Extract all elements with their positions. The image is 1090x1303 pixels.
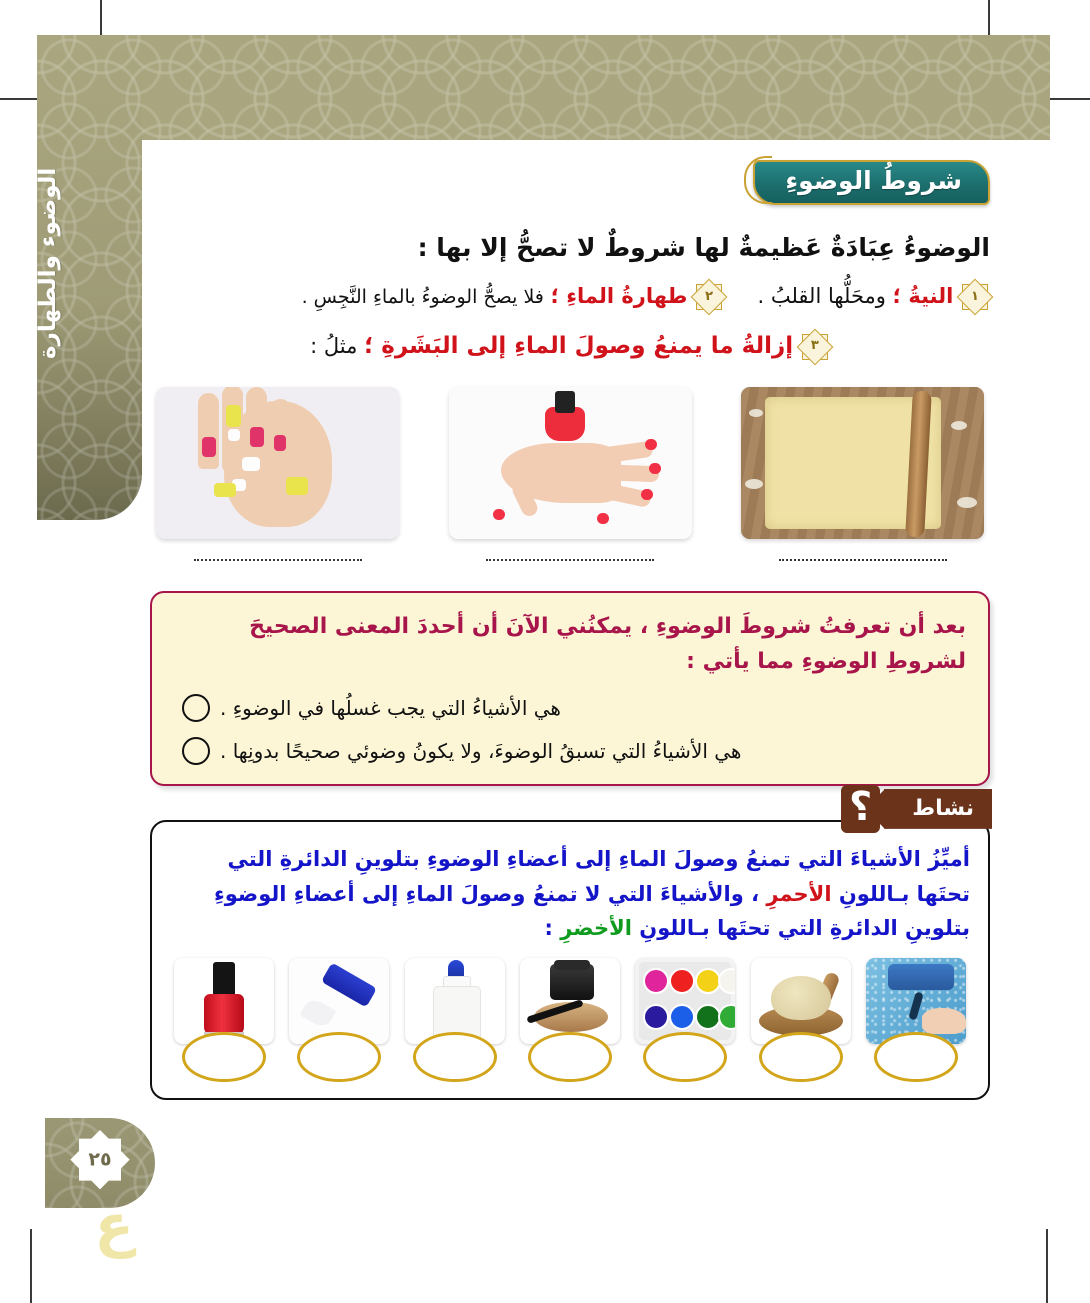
example-photo-cell-2 [449, 387, 692, 561]
page-title: شروطُ الوضوءِ [785, 166, 962, 195]
example-photo-cell-1 [156, 387, 399, 561]
activity-text-part-3: : [545, 916, 553, 940]
section-title-banner: شروطُ الوضوءِ [753, 160, 990, 205]
activity-text-green: الأخضرِ [560, 916, 632, 940]
answer-circle-7[interactable] [874, 1032, 958, 1082]
crop-mark-bottom-right [1046, 1229, 1048, 1303]
condition-2-headword: طهارةُ الماءِ ؛ [551, 284, 688, 308]
answer-circle-5[interactable] [643, 1032, 727, 1082]
activity-item-paint-palette [635, 958, 735, 1082]
activity-item-row [170, 958, 970, 1082]
thumbnail-black-ink-bottle [520, 958, 620, 1044]
activity-section: نشاط ؟ أميِّزُ الأشياءَ التي تمنعُ وصولَ… [150, 820, 990, 1100]
answer-circle-1[interactable] [182, 1032, 266, 1082]
chapter-side-tab: الوضوء والطهارة [37, 35, 142, 520]
thumbnail-blue-paint-roller [866, 958, 966, 1044]
activity-item-blue-correction-pen [289, 958, 389, 1082]
page-content: شروطُ الوضوءِ الوضوءُ عِبَادَةٌ عَظيمةٌ … [150, 160, 990, 1100]
answer-line-2[interactable] [486, 559, 654, 561]
activity-tab-label: نشاط [912, 796, 974, 821]
reflection-option-2-label: هي الأشياءُ التي تسبقُ الوضوءَ، ولا يكون… [220, 737, 741, 766]
chapter-side-tab-label: الوضوء والطهارة [37, 113, 142, 413]
publisher-logo-icon: ع [58, 1196, 134, 1262]
thumbnail-white-glue-bottle [405, 958, 505, 1044]
example-photo-cell-3 [741, 387, 984, 561]
conditions-line-2: ٣ إزالةُ ما يمنعُ وصولَ الماءِ إلى البَش… [150, 328, 990, 365]
thumbnail-red-nail-polish [174, 958, 274, 1044]
photo-hand-with-paint-spots [156, 387, 399, 539]
activity-item-white-glue-bottle [405, 958, 505, 1082]
condition-2-rest: فلا يصحُّ الوضوءُ بالماءِ النَّجِسِ . [302, 286, 544, 308]
section-title-row: شروطُ الوضوءِ [150, 160, 990, 205]
reflection-option-2[interactable]: هي الأشياءُ التي تسبقُ الوضوءَ، ولا يكون… [174, 737, 966, 766]
activity-item-red-nail-polish [174, 958, 274, 1082]
answer-line-1[interactable] [194, 559, 362, 561]
reflection-option-1[interactable]: هي الأشياءُ التي يجب غسلُها في الوضوءِ . [174, 694, 966, 723]
condition-1-rest: ومحَلُّها القلبُ . [758, 284, 886, 308]
thumbnail-bread-dough [751, 958, 851, 1044]
conditions-line-1: ١ النيةُ ؛ ومحَلُّها القلبُ . ٢ طهارةُ ا… [150, 280, 990, 314]
example-photo-row [150, 387, 990, 561]
crop-mark-bottom-left [30, 1229, 32, 1303]
thumbnail-blue-correction-pen [289, 958, 389, 1044]
activity-instructions: أميِّزُ الأشياءَ التي تمنعُ وصولَ الماءِ… [170, 842, 970, 946]
activity-item-dough [751, 958, 851, 1082]
bullet-marker-3: ٣ [802, 334, 828, 360]
textbook-page: الوضوء والطهارة شروطُ الوضوءِ الوضوءُ عِ… [0, 0, 1090, 1303]
condition-3-rest: مثلُ : [310, 334, 357, 358]
answer-circle-3[interactable] [413, 1032, 497, 1082]
question-mark-icon: ؟ [841, 785, 880, 833]
photo-hand-with-nail-polish [449, 387, 692, 539]
condition-3-headword: إزالةُ ما يمنعُ وصولَ الماءِ إلى البَشَر… [364, 333, 793, 359]
reflection-option-1-label: هي الأشياءُ التي يجب غسلُها في الوضوءِ . [220, 694, 561, 723]
answer-circle-6[interactable] [759, 1032, 843, 1082]
answer-circle-2[interactable] [297, 1032, 381, 1082]
olive-header-band [37, 35, 1050, 140]
activity-text-red: الأحمرِ [766, 882, 831, 906]
bullet-marker-2: ٢ [696, 284, 722, 310]
radio-circle-2[interactable] [182, 737, 210, 765]
reflection-prompt: بعد أن تعرفتُ شروطَ الوضوءِ ، يمكنُني ال… [174, 609, 966, 680]
radio-circle-1[interactable] [182, 694, 210, 722]
islamic-pattern-decoration [37, 35, 1050, 140]
activity-item-black-ink-bottle [520, 958, 620, 1082]
reflection-box: بعد أن تعرفتُ شروطَ الوضوءِ ، يمكنُني ال… [150, 591, 990, 786]
condition-1-headword: النيةُ ؛ [893, 284, 954, 308]
answer-line-3[interactable] [779, 559, 947, 561]
bullet-marker-1: ١ [962, 284, 988, 310]
activity-tab-label-wrap: نشاط [884, 789, 992, 829]
photo-rolled-dough [741, 387, 984, 539]
thumbnail-watercolor-palette [635, 958, 735, 1044]
activity-box: أميِّزُ الأشياءَ التي تمنعُ وصولَ الماءِ… [150, 820, 990, 1100]
activity-item-paint-roller [866, 958, 966, 1082]
activity-tab: نشاط ؟ [841, 787, 992, 831]
answer-circle-4[interactable] [528, 1032, 612, 1082]
page-number-star: ٢٥ [79, 1139, 121, 1181]
lead-paragraph: الوضوءُ عِبَادَةٌ عَظيمةٌ لها شروطٌ لا ت… [150, 229, 990, 267]
